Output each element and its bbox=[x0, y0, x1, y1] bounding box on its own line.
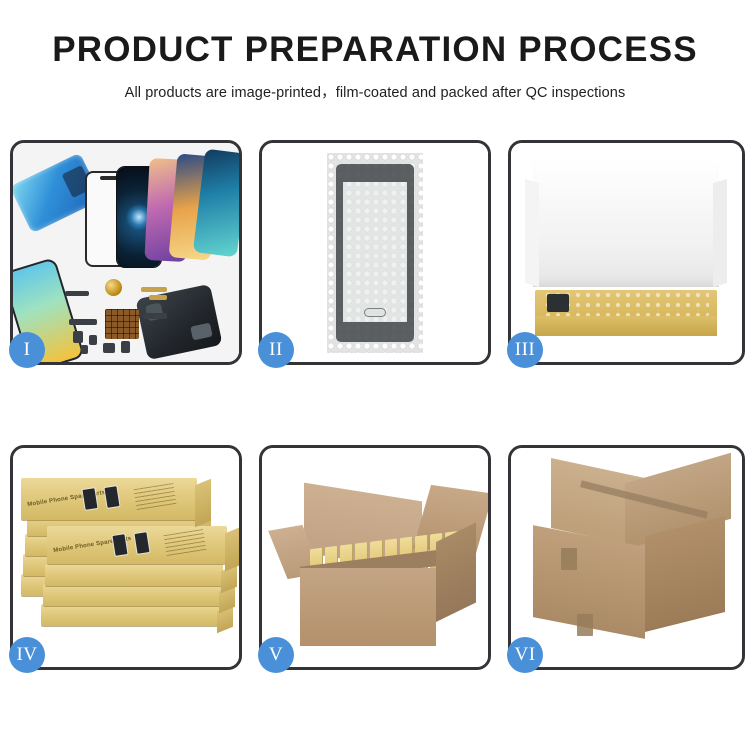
step-panel-6: VI bbox=[508, 445, 745, 670]
stack-box-front-1 bbox=[41, 604, 219, 626]
white-box-lid-icon bbox=[533, 159, 719, 287]
logic-board-icon bbox=[105, 309, 139, 339]
stack-box-printed-2: Mobile Phone Spare Parts bbox=[47, 526, 227, 564]
step-image-2 bbox=[262, 143, 488, 362]
spare-parts-group bbox=[65, 283, 195, 362]
step-badge-4: IV bbox=[9, 637, 45, 673]
step-badge-3: III bbox=[507, 332, 543, 368]
part-gold-flex bbox=[141, 287, 167, 292]
carton-front-panel-icon bbox=[300, 568, 436, 646]
header: PRODUCT PREPARATION PROCESS All products… bbox=[0, 0, 750, 102]
wrapped-screen-in-tray-icon bbox=[543, 290, 709, 316]
box-print-screen-1b bbox=[103, 485, 120, 509]
part-bracket bbox=[73, 331, 83, 343]
part-speaker bbox=[103, 343, 115, 353]
stack-box-front-2 bbox=[43, 584, 221, 606]
step-panel-1: I bbox=[10, 140, 242, 365]
step-badge-5: V bbox=[258, 637, 294, 673]
step-image-1 bbox=[13, 143, 239, 362]
box-print-specs-2 bbox=[164, 529, 207, 557]
part-vibrator bbox=[121, 341, 130, 353]
stack-box-printed-1: Mobile Phone Spare Parts bbox=[21, 478, 197, 520]
camera-lens-icon bbox=[105, 279, 122, 296]
kraft-box-front-icon bbox=[535, 316, 717, 336]
carton-right-face-icon bbox=[645, 516, 725, 632]
part-gold-flex-2 bbox=[149, 295, 167, 300]
step-image-3 bbox=[511, 143, 742, 362]
part-connector-bar bbox=[65, 291, 89, 296]
step-panel-2: II bbox=[259, 140, 491, 365]
box-stack-group: Mobile Phone Spare Parts Mobile Phone Sp… bbox=[17, 462, 239, 664]
step-image-5 bbox=[262, 448, 488, 667]
step-image-4: Mobile Phone Spare Parts Mobile Phone Sp… bbox=[13, 448, 239, 667]
part-ribbon bbox=[143, 313, 167, 319]
step-panel-3: III bbox=[508, 140, 745, 365]
carton-tab-upper-icon bbox=[561, 548, 577, 570]
product-preparation-infographic: PRODUCT PREPARATION PROCESS All products… bbox=[0, 0, 750, 750]
stack-box-front-3 bbox=[45, 564, 223, 586]
step-badge-1: I bbox=[9, 332, 45, 368]
page-title: PRODUCT PREPARATION PROCESS bbox=[0, 32, 750, 69]
step-badge-2: II bbox=[258, 332, 294, 368]
wrapped-screen-icon bbox=[336, 164, 414, 342]
box-print-specs-1 bbox=[134, 483, 177, 511]
part-screw-set bbox=[81, 345, 88, 354]
sealed-carton-group bbox=[525, 474, 731, 650]
step-badge-6: VI bbox=[507, 637, 543, 673]
open-carton-group bbox=[278, 482, 478, 652]
part-flex-cable bbox=[69, 319, 97, 325]
step-panel-4: Mobile Phone Spare Parts Mobile Phone Sp… bbox=[10, 445, 242, 670]
steps-grid: I II III bbox=[10, 140, 745, 670]
carton-tab-lower-icon bbox=[577, 614, 593, 636]
home-button-icon bbox=[364, 308, 386, 317]
page-subtitle: All products are image-printed，film-coat… bbox=[0, 81, 750, 102]
box-print-screen-2b bbox=[133, 531, 150, 555]
step-panel-5: V bbox=[259, 445, 491, 670]
part-button bbox=[89, 335, 97, 345]
step-image-6 bbox=[511, 448, 742, 667]
